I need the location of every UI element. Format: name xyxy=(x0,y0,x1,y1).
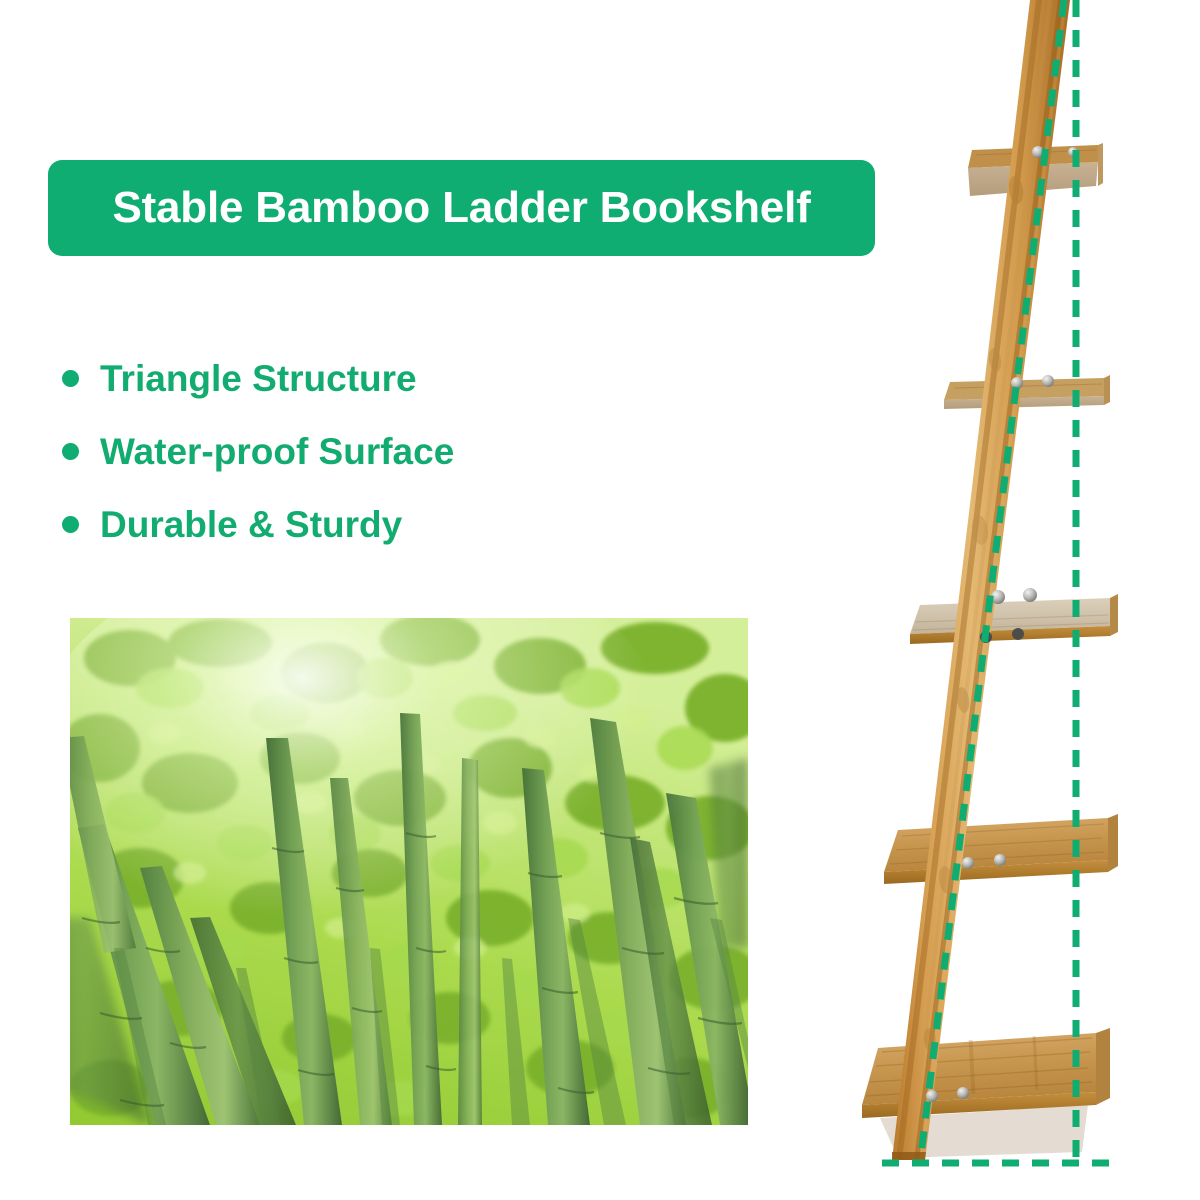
forest-photo-graphic xyxy=(70,618,748,1125)
list-item: Water-proof Surface xyxy=(62,415,682,488)
feature-label: Durable & Sturdy xyxy=(100,504,402,546)
list-item: Triangle Structure xyxy=(62,342,682,415)
feature-label: Water-proof Surface xyxy=(100,431,454,473)
bullet-dot-icon xyxy=(62,443,79,460)
title-banner: Stable Bamboo Ladder Bookshelf xyxy=(48,160,875,256)
product-image xyxy=(820,0,1200,1200)
bookshelf-graphic xyxy=(820,0,1200,1200)
feature-label: Triangle Structure xyxy=(100,358,417,400)
feature-list: Triangle Structure Water-proof Surface D… xyxy=(62,342,682,561)
bamboo-forest-photo xyxy=(70,618,748,1125)
list-item: Durable & Sturdy xyxy=(62,488,682,561)
page-title: Stable Bamboo Ladder Bookshelf xyxy=(112,183,810,233)
bullet-dot-icon xyxy=(62,370,79,387)
bullet-dot-icon xyxy=(62,516,79,533)
promo-stage: Stable Bamboo Ladder Bookshelf Triangle … xyxy=(0,0,1200,1200)
fourth-shelf xyxy=(884,814,1118,884)
second-shelf xyxy=(944,375,1110,409)
